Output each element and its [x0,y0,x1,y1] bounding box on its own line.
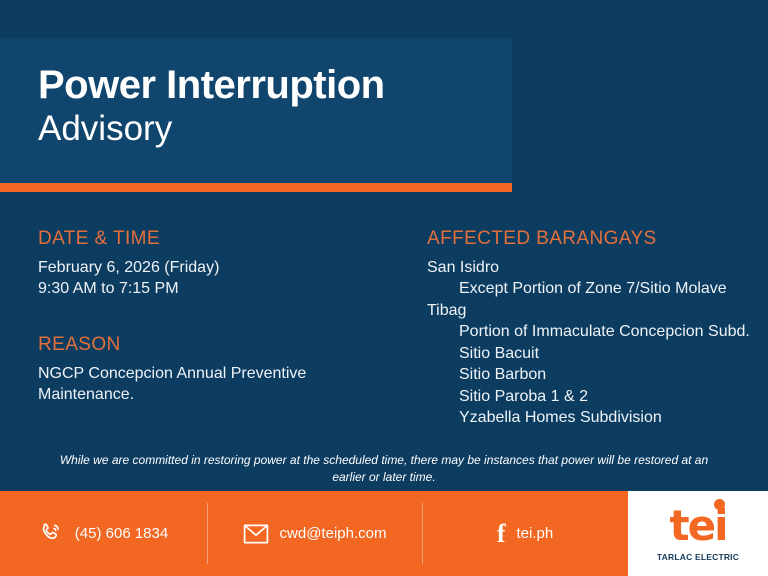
barangay-sub-item: Portion of Immaculate Concepcion Subd. [427,321,768,342]
envelope-icon [243,523,269,545]
barangays-column: AFFECTED BARANGAYS San IsidroExcept Port… [427,228,768,429]
barangays-heading: AFFECTED BARANGAYS [427,228,768,250]
disclaimer-note: While we are committed in restoring powe… [54,452,714,487]
barangay-item: San Isidro [427,257,768,278]
email-address: cwd@teiph.com [280,525,387,542]
barangay-sub-item: Sitio Barbon [427,364,768,385]
logo-company-name: TARLAC ELECTRIC [657,552,739,562]
facebook-handle: tei.ph [516,525,553,542]
datetime-heading: DATE & TIME [38,228,408,250]
contact-phone[interactable]: (45) 606 1834 [0,491,207,576]
power-interruption-advisory: { "title": { "main": "Power Interruption… [0,0,768,576]
footer-bar: (45) 606 1834 cwd@teiph.com f tei.ph tei… [0,491,768,576]
page-title: Power Interruption [38,64,512,107]
details-column: DATE & TIME February 6, 2026 (Friday) 9:… [38,228,408,405]
barangay-sub-item: Sitio Paroba 1 & 2 [427,386,768,407]
facebook-f-icon: f [497,521,506,547]
reason-line-2: Maintenance. [38,384,408,405]
reason-line-1: NGCP Concepcion Annual Preventive [38,363,408,384]
title-panel: Power Interruption Advisory [0,38,512,183]
barangay-sub-item: Except Portion of Zone 7/Sitio Molave [427,278,768,299]
barangay-sub-item: Sitio Bacuit [427,343,768,364]
reason-heading: REASON [38,334,408,356]
barangay-list: San IsidroExcept Portion of Zone 7/Sitio… [427,257,768,429]
contact-email[interactable]: cwd@teiph.com [207,491,422,576]
barangay-sub-item: Yzabella Homes Subdivision [427,407,768,428]
phone-ringing-icon [39,521,64,546]
barangay-item: Tibag [427,300,768,321]
logo-mark: tei [670,505,727,547]
accent-bar [0,183,512,192]
contact-facebook[interactable]: f tei.ph [422,491,628,576]
company-logo: tei TARLAC ELECTRIC [628,491,768,576]
advisory-body: DATE & TIME February 6, 2026 (Friday) 9:… [0,228,768,438]
datetime-time: 9:30 AM to 7:15 PM [38,278,408,299]
page-subtitle: Advisory [38,109,512,149]
datetime-date: February 6, 2026 (Friday) [38,257,408,278]
phone-number: (45) 606 1834 [75,525,168,542]
